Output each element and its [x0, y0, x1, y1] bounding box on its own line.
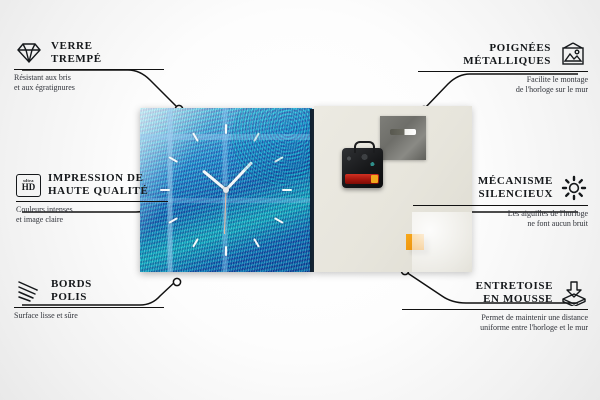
hour-marker — [168, 156, 178, 163]
foam-spacer-icon — [560, 280, 588, 306]
callout-title: VERRE TREMPÉ — [51, 40, 102, 66]
hanger-keyhole-slot — [390, 129, 416, 135]
callout-desc-line1: Résistant aux bris — [14, 73, 164, 83]
diamond-icon — [14, 41, 44, 65]
hanging-frame-icon — [558, 42, 588, 68]
gear-icon — [560, 174, 588, 202]
callout-mecanisme-silencieux: MÉCANISME SILENCIEUX Les aiguilles de l'… — [413, 174, 588, 229]
divider — [16, 201, 168, 202]
callout-title: BORDS POLIS — [51, 278, 92, 304]
hour-marker — [253, 132, 260, 142]
divider — [402, 309, 588, 310]
hour-marker — [225, 124, 227, 134]
callout-verre-trempe: VERRE TREMPÉ Résistant aux bris et aux é… — [14, 40, 164, 93]
mechanism-hook — [354, 141, 375, 153]
callout-desc-line2: de l'horloge sur le mur — [418, 85, 588, 95]
infographic-canvas: VERRE TREMPÉ Résistant aux bris et aux é… — [0, 0, 600, 400]
divider — [418, 71, 588, 72]
foam-spacer — [406, 234, 424, 250]
battery-terminal — [371, 175, 378, 183]
hour-marker — [253, 238, 260, 248]
mechanism-details — [346, 153, 376, 171]
callout-poignees-metalliques: POIGNÉES MÉTALLIQUES Facilite le montage… — [418, 42, 588, 95]
callout-desc-line1: Permet de maintenir une distance — [402, 313, 588, 323]
hour-marker — [192, 238, 199, 248]
hour-marker — [274, 217, 284, 224]
clock-center-cap — [223, 187, 229, 193]
callout-desc-line1: Surface lisse et sûre — [14, 311, 164, 321]
callout-desc-line2: et image claire — [16, 215, 168, 225]
callout-title: POIGNÉES MÉTALLIQUES — [463, 42, 551, 68]
callout-desc-line2: et aux égratignures — [14, 83, 164, 93]
callout-desc-line2: ne font aucun bruit — [413, 219, 588, 229]
callout-desc-line2: uniforme entre l'horloge et le mur — [402, 323, 588, 333]
callout-title: IMPRESSION DE HAUTE QUALITÉ — [48, 172, 148, 198]
callout-desc-line1: Couleurs intenses — [16, 205, 168, 215]
hour-marker — [168, 217, 178, 224]
callout-title: ENTRETOISE EN MOUSSE — [476, 280, 553, 306]
callout-title: MÉCANISME SILENCIEUX — [478, 175, 553, 201]
hour-marker — [282, 189, 292, 191]
hour-marker — [192, 132, 199, 142]
callout-impression-haute-qualite: ultra HD IMPRESSION DE HAUTE QUALITÉ Cou… — [16, 172, 168, 225]
hour-marker — [274, 156, 284, 163]
ultra-hd-icon-bottom: HD — [22, 183, 36, 192]
callout-bords-polis: BORDS POLIS Surface lisse et sûre — [14, 278, 164, 321]
divider — [14, 307, 164, 308]
callout-desc-line1: Les aiguilles de l'horloge — [413, 209, 588, 219]
clock-second-hand — [224, 190, 227, 234]
callout-entretoise-en-mousse: ENTRETOISE EN MOUSSE Permet de maintenir… — [402, 280, 588, 333]
hour-marker — [225, 246, 227, 256]
metal-hanger — [380, 116, 426, 160]
battery — [345, 174, 379, 184]
polished-edges-icon — [14, 279, 44, 303]
quartz-mechanism — [342, 148, 383, 188]
ultra-hd-icon: ultra HD — [16, 174, 41, 197]
divider — [413, 205, 588, 206]
callout-desc-line1: Facilite le montage — [418, 75, 588, 85]
divider — [14, 69, 164, 70]
clock-minute-hand — [225, 161, 253, 191]
